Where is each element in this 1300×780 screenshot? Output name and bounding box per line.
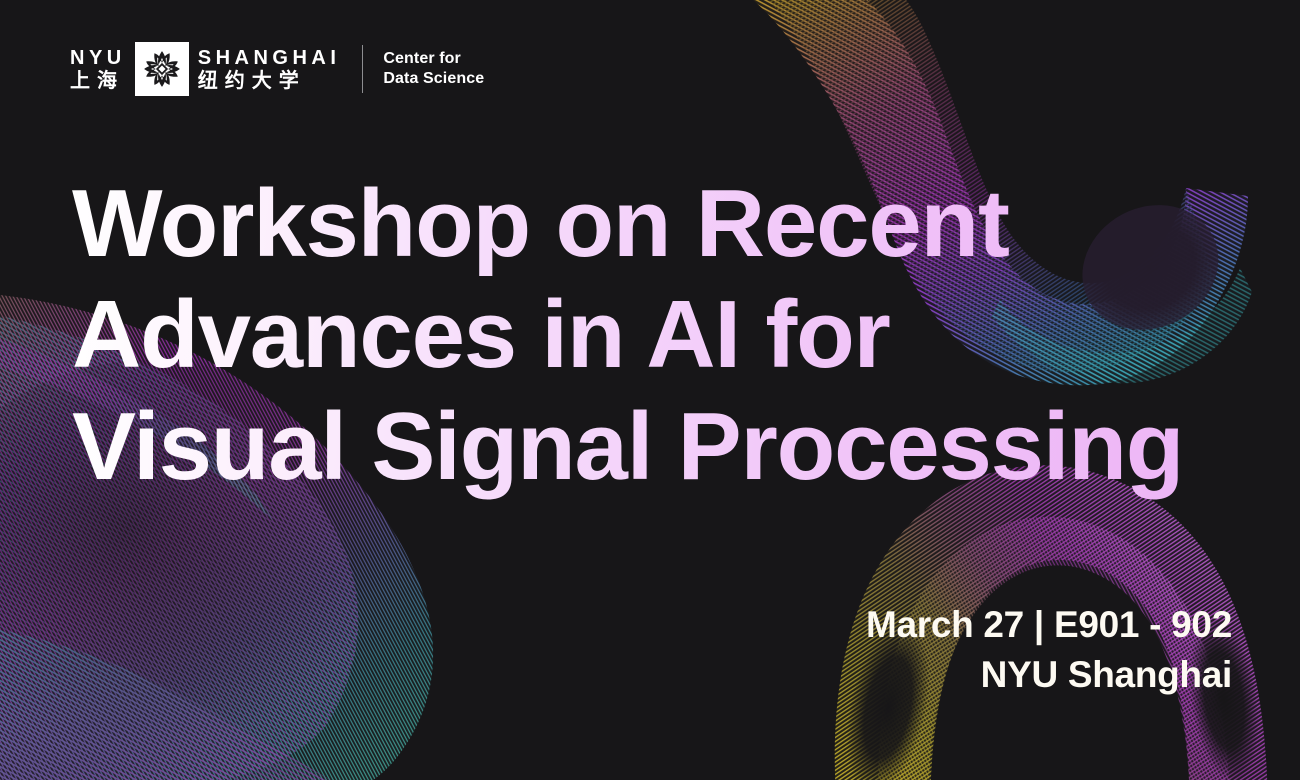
logo-shanghai-text: SHANGHAI <box>198 48 341 68</box>
event-date-and-room: March 27 | E901 - 902 <box>866 600 1232 650</box>
logo-nyu-shanghai-left: NYU 上海 <box>70 48 126 91</box>
event-venue: NYU Shanghai <box>866 650 1232 700</box>
cds-line-2: Data Science <box>383 69 484 89</box>
logo-nyu-chinese-text: 纽约大学 <box>198 71 341 91</box>
nyu-shanghai-flower-emblem-icon <box>135 42 189 96</box>
poster-title: Workshop on Recent Advances in AI for Vi… <box>72 168 1183 502</box>
event-poster: NYU 上海 <box>0 0 1300 780</box>
nyu-shanghai-cds-logo: NYU 上海 <box>70 42 484 96</box>
event-details: March 27 | E901 - 902 NYU Shanghai <box>866 600 1232 701</box>
logo-nyu-shanghai-right: SHANGHAI 纽约大学 <box>198 48 341 91</box>
logo-shanghai-chinese-text: 上海 <box>70 71 126 91</box>
title-line-1: Workshop on Recent <box>72 168 1183 279</box>
logo-nyu-text: NYU <box>70 48 126 68</box>
title-line-3: Visual Signal Processing <box>72 391 1183 502</box>
center-for-data-science-label: Center for Data Science <box>383 49 484 90</box>
logo-divider <box>362 45 363 93</box>
title-line-2: Advances in AI for <box>72 279 1183 390</box>
cds-line-1: Center for <box>383 49 484 69</box>
